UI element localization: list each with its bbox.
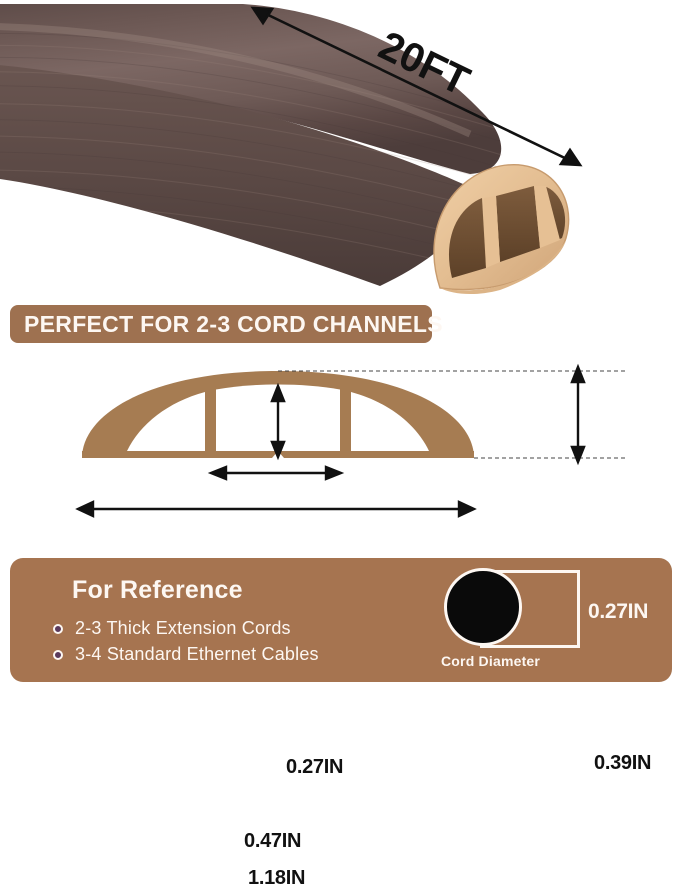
cord-cross-section-icon	[444, 568, 522, 646]
overall-width-dimension	[78, 502, 474, 516]
feature-banner-text: PERFECT FOR 2-3 CORD CHANNELS	[10, 311, 443, 338]
reference-panel: For Reference 2-3 Thick Extension Cords …	[10, 558, 672, 682]
bullet-icon	[53, 650, 63, 660]
product-illustration	[0, 0, 679, 300]
list-item: 2-3 Thick Extension Cords	[53, 618, 291, 639]
list-item-label: 2-3 Thick Extension Cords	[75, 618, 291, 639]
bullet-icon	[53, 624, 63, 634]
cross-section-illustration	[0, 352, 679, 552]
list-item-label: 3-4 Standard Ethernet Cables	[75, 644, 319, 665]
cord-diameter-caption: Cord Diameter	[441, 653, 540, 669]
product-hero-image: 20FT	[0, 0, 679, 300]
cross-section-diagram: 0.27IN 0.39IN 0.47IN 1.18IN	[0, 352, 679, 552]
reference-title: For Reference	[72, 576, 243, 605]
overall-height-label: 0.39IN	[594, 752, 651, 775]
channel-height-label: 0.27IN	[286, 756, 343, 779]
cord-diameter-value: 0.27IN	[588, 600, 648, 624]
channel-width-label: 0.47IN	[244, 830, 301, 853]
overall-width-label: 1.18IN	[248, 867, 305, 890]
channel-width-dimension	[211, 467, 341, 479]
infographic-stage: 20FT PERFECT FOR 2-3 CORD CHANNELS	[0, 0, 679, 674]
feature-banner: PERFECT FOR 2-3 CORD CHANNELS	[10, 305, 432, 343]
overall-height-dimension	[572, 367, 584, 462]
list-item: 3-4 Standard Ethernet Cables	[53, 644, 319, 665]
